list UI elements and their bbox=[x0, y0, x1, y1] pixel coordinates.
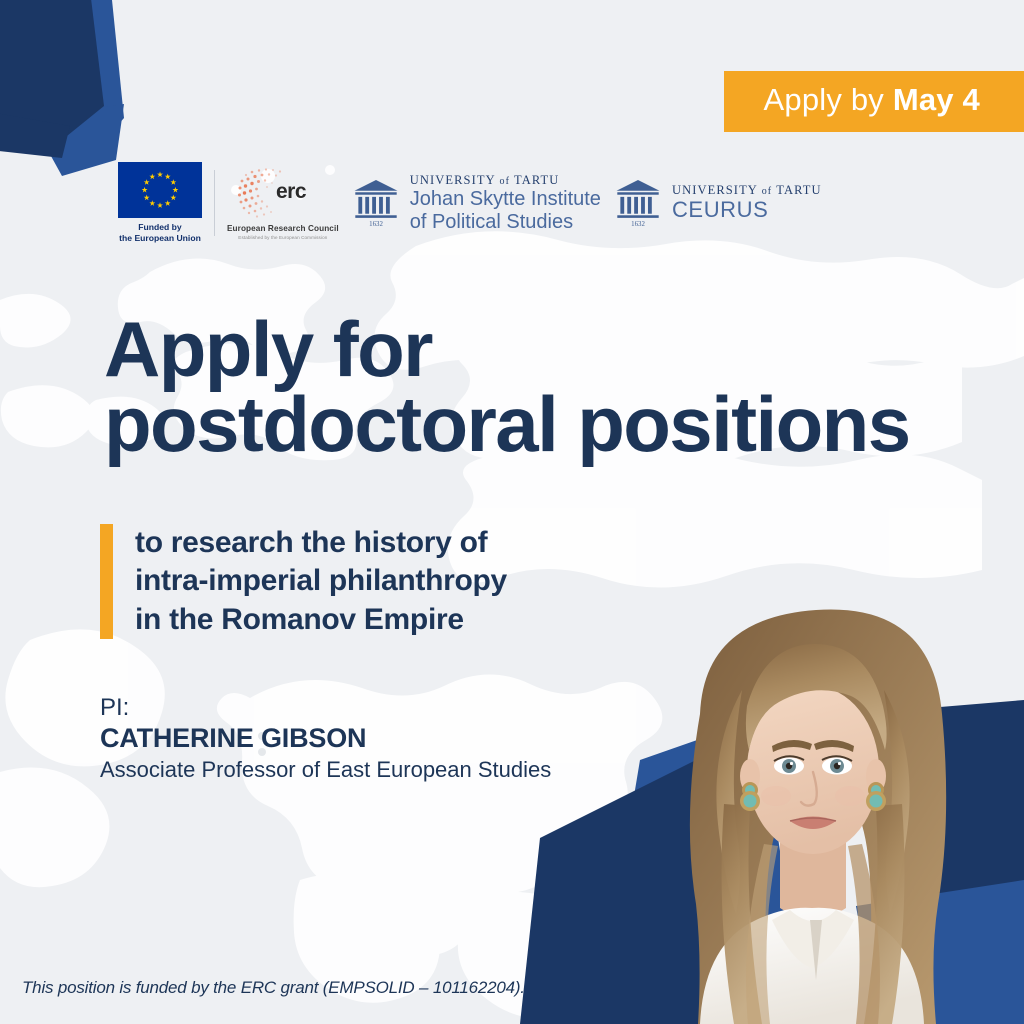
principal-investigator-block: PI: CATHERINE GIBSON Associate Professor… bbox=[100, 694, 551, 784]
logo-johan-skytte-institute: 1632 UNIVERSITY of TARTU Johan Skytte In… bbox=[353, 173, 601, 233]
svg-text:1632: 1632 bbox=[369, 221, 383, 228]
johan-skytte-university-word: UNIVERSITY bbox=[410, 173, 496, 187]
apply-deadline-banner: Apply by May 4 bbox=[724, 71, 1024, 132]
erc-logo-subtitle: Established by the European Commission bbox=[238, 235, 327, 240]
logo-ceurus: 1632 UNIVERSITY of TARTU CEURUS bbox=[615, 178, 822, 228]
logo-erc: erc European Research Council Establishe… bbox=[227, 167, 339, 240]
apply-deadline-date: May 4 bbox=[893, 82, 980, 117]
subtitle-line3: in the Romanov Empire bbox=[135, 601, 507, 639]
ceurus-university-line: UNIVERSITY of TARTU bbox=[672, 183, 822, 198]
ceurus-place-word: TARTU bbox=[776, 183, 821, 197]
subtitle-block: to research the history of intra-imperia… bbox=[100, 524, 507, 639]
pi-name: CATHERINE GIBSON bbox=[100, 722, 551, 755]
funding-footnote: This position is funded by the ERC grant… bbox=[22, 978, 525, 998]
johan-skytte-name-line1: Johan Skytte Institute bbox=[410, 188, 601, 210]
ceurus-name-line1: CEURUS bbox=[672, 198, 822, 223]
ceurus-of-word: of bbox=[762, 186, 773, 197]
ceurus-university-word: UNIVERSITY bbox=[672, 183, 758, 197]
apply-deadline-prefix: Apply by bbox=[764, 82, 885, 117]
subtitle-text: to research the history of intra-imperia… bbox=[135, 524, 507, 639]
erc-logo-name: European Research Council bbox=[227, 224, 339, 233]
orange-accent-bar bbox=[100, 524, 113, 639]
johan-skytte-university-line: UNIVERSITY of TARTU bbox=[410, 173, 601, 188]
logo-strip: Funded by the European Union bbox=[118, 162, 822, 244]
subtitle-line2: intra-imperial philanthropy bbox=[135, 562, 507, 600]
johan-skytte-of-word: of bbox=[499, 176, 510, 187]
johan-skytte-name-line2: of Political Studies bbox=[410, 211, 601, 233]
portrait-photo bbox=[604, 594, 1024, 1024]
svg-text:erc: erc bbox=[276, 180, 307, 203]
earring-right bbox=[866, 782, 886, 811]
johan-skytte-place-word: TARTU bbox=[514, 173, 559, 187]
university-crest-icon: 1632 bbox=[615, 178, 661, 228]
subtitle-line1: to research the history of bbox=[135, 524, 507, 562]
eu-caption-line2: the European Union bbox=[119, 233, 201, 244]
pi-label: PI: bbox=[100, 694, 551, 722]
university-crest-icon: 1632 bbox=[353, 178, 399, 228]
logo-divider bbox=[214, 170, 215, 236]
headline-line1: Apply for bbox=[104, 312, 909, 387]
earring-left bbox=[740, 782, 760, 811]
pi-role: Associate Professor of East European Stu… bbox=[100, 756, 551, 784]
svg-text:1632: 1632 bbox=[631, 221, 645, 228]
logo-european-union: Funded by the European Union bbox=[118, 162, 202, 244]
erc-dots-icon: erc bbox=[237, 167, 329, 221]
eu-logo-caption: Funded by the European Union bbox=[119, 222, 201, 244]
eu-caption-line1: Funded by bbox=[119, 222, 201, 233]
eu-flag-icon bbox=[118, 162, 202, 218]
headline-line2: postdoctoral positions bbox=[104, 387, 909, 462]
page-headline: Apply for postdoctoral positions bbox=[104, 312, 909, 462]
